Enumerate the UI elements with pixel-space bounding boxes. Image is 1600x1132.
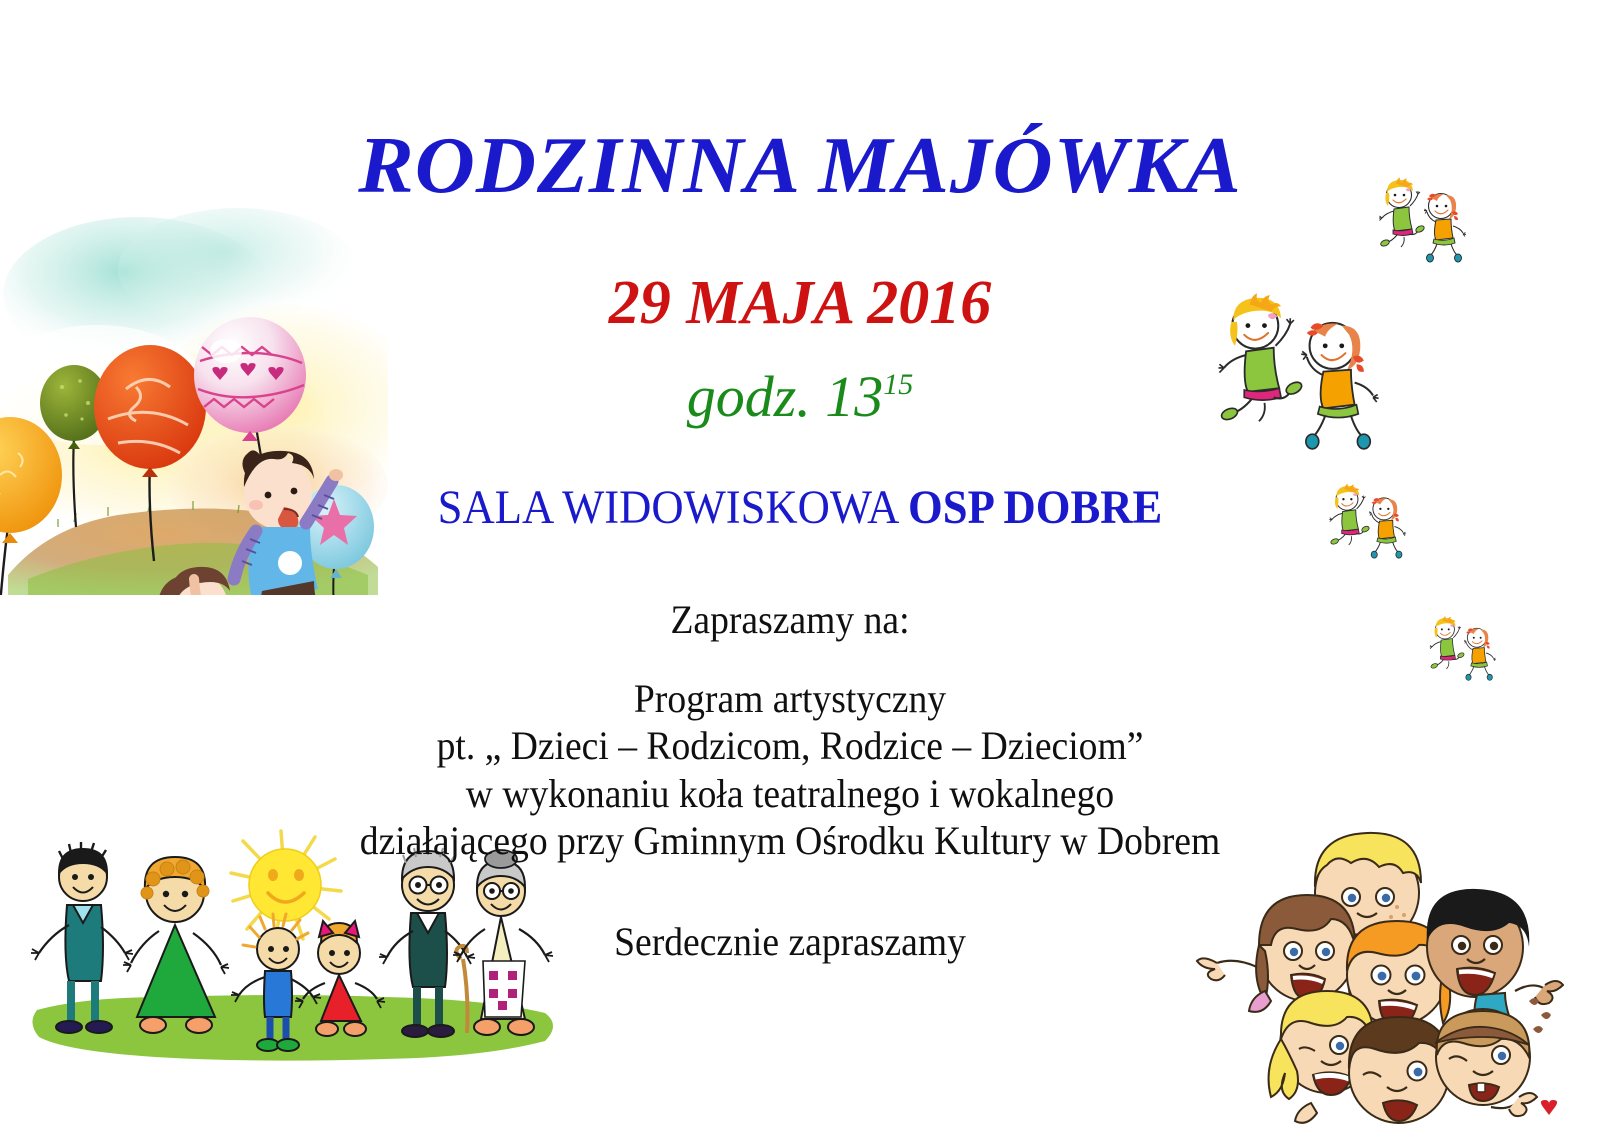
spacer-small (230, 643, 1350, 675)
event-description: Zapraszamy na: Program artystyczny pt. „… (230, 596, 1350, 965)
program-line-3: w wykonaniu koła teatralnego i wokalnego (264, 770, 1317, 817)
kid-pair-1 (1379, 178, 1466, 263)
spacer-large (230, 864, 1350, 918)
event-time-minutes: 15 (883, 368, 913, 401)
invitation-closing: Serdecznie zapraszamy (264, 918, 1317, 965)
face-headband-girl-bottom-right (1435, 1009, 1557, 1116)
event-time: godz. 1315 (330, 368, 1270, 426)
kid-pair-3 (1329, 484, 1406, 558)
invitation-lead: Zapraszamy na: (264, 596, 1317, 643)
event-venue: SALA WIDOWISKOWA OSP DOBRE (335, 484, 1265, 532)
event-date: 29 MAJA 2016 (330, 272, 1270, 334)
program-line-1: Program artystyczny (264, 675, 1317, 722)
program-line-2: pt. „ Dzieci – Rodzicom, Rodzice – Dziec… (264, 722, 1317, 769)
program-line-4: działającego przy Gminnym Ośrodku Kultur… (264, 817, 1317, 864)
poster-canvas: RODZINNA MAJÓWKA 29 MAJA 2016 godz. 1315… (0, 0, 1600, 1132)
venue-highlight: OSP DOBRE (908, 481, 1162, 534)
page-title: RODZINNA MAJÓWKA (280, 126, 1320, 206)
kid-pair-4 (1430, 616, 1496, 680)
face-brown-hair-boy-bottom (1349, 1017, 1449, 1123)
venue-prefix: SALA WIDOWISKOWA (438, 481, 908, 534)
event-time-value: godz. 13 (687, 364, 884, 429)
